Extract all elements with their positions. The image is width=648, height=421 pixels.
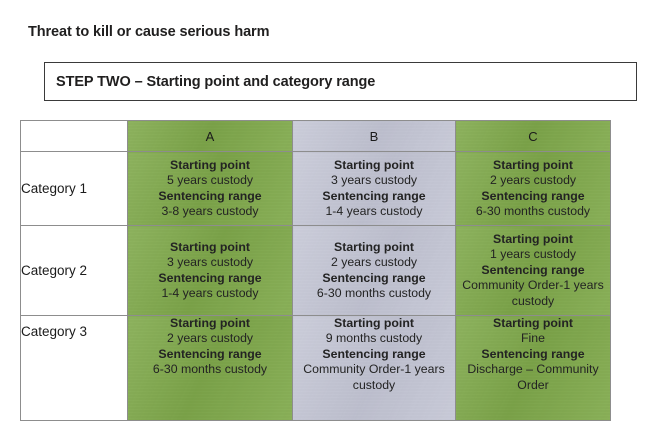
table-corner-cell <box>21 121 128 152</box>
cell-category-1-c: Starting point 2 years custody Sentencin… <box>456 152 611 226</box>
starting-point-label: Starting point <box>128 316 292 331</box>
starting-point-value: 3 years custody <box>293 173 455 188</box>
column-header-c: C <box>456 121 611 152</box>
table-header-row: A B C <box>21 121 611 152</box>
starting-point-value: 9 months custody <box>293 331 455 346</box>
cell-category-3-a: Starting point 2 years custody Sentencin… <box>128 316 293 421</box>
table-row: Category 2 Starting point 3 years custod… <box>21 226 611 316</box>
cell-category-1-b: Starting point 3 years custody Sentencin… <box>293 152 456 226</box>
starting-point-label: Starting point <box>456 232 610 247</box>
sentencing-range-label: Sentencing range <box>293 347 455 362</box>
starting-point-label: Starting point <box>128 158 292 173</box>
cell-category-2-a: Starting point 3 years custody Sentencin… <box>128 226 293 316</box>
sentencing-range-value: 6-30 months custody <box>293 286 455 301</box>
page-title: Threat to kill or cause serious harm <box>28 24 269 40</box>
starting-point-value: 3 years custody <box>128 255 292 270</box>
cell-category-3-c: Starting point Fine Sentencing range Dis… <box>456 316 611 421</box>
sentencing-range-label: Sentencing range <box>128 189 292 204</box>
sentencing-range-value: 6-30 months custody <box>128 362 292 377</box>
starting-point-value: 2 years custody <box>293 255 455 270</box>
sentencing-range-value: 1-4 years custody <box>128 286 292 301</box>
sentencing-range-value: 3-8 years custody <box>128 204 292 219</box>
cell-category-2-c: Starting point 1 years custody Sentencin… <box>456 226 611 316</box>
sentencing-range-label: Sentencing range <box>456 347 610 362</box>
sentencing-range-value: Discharge – Community Order <box>456 362 610 393</box>
sentencing-guideline-table: A B C Category 1 Starting point 5 years … <box>20 120 611 421</box>
sentencing-range-label: Sentencing range <box>293 271 455 286</box>
sentencing-range-label: Sentencing range <box>456 263 610 278</box>
sentencing-range-value: Community Order-1 years custody <box>293 362 455 393</box>
starting-point-label: Starting point <box>456 158 610 173</box>
starting-point-label: Starting point <box>293 316 455 331</box>
starting-point-value: 1 years custody <box>456 247 610 262</box>
column-header-a: A <box>128 121 293 152</box>
starting-point-label: Starting point <box>293 158 455 173</box>
row-label-category-2: Category 2 <box>21 226 128 316</box>
cell-category-1-a: Starting point 5 years custody Sentencin… <box>128 152 293 226</box>
table-row: Category 1 Starting point 5 years custod… <box>21 152 611 226</box>
step-two-banner: STEP TWO – Starting point and category r… <box>44 62 637 101</box>
sentencing-range-label: Sentencing range <box>293 189 455 204</box>
cell-category-2-b: Starting point 2 years custody Sentencin… <box>293 226 456 316</box>
starting-point-label: Starting point <box>293 240 455 255</box>
sentencing-range-label: Sentencing range <box>456 189 610 204</box>
row-label-category-1: Category 1 <box>21 152 128 226</box>
starting-point-value: 5 years custody <box>128 173 292 188</box>
column-header-b: B <box>293 121 456 152</box>
starting-point-value: 2 years custody <box>128 331 292 346</box>
starting-point-value: 2 years custody <box>456 173 610 188</box>
sentencing-range-value: 6-30 months custody <box>456 204 610 219</box>
starting-point-label: Starting point <box>456 316 610 331</box>
sentencing-range-value: Community Order-1 years custody <box>456 278 610 309</box>
sentencing-range-label: Sentencing range <box>128 347 292 362</box>
table-row: Category 3 Starting point 2 years custod… <box>21 316 611 421</box>
step-two-label: STEP TWO – Starting point and category r… <box>45 74 375 90</box>
cell-category-3-b: Starting point 9 months custody Sentenci… <box>293 316 456 421</box>
starting-point-label: Starting point <box>128 240 292 255</box>
row-label-category-3: Category 3 <box>21 316 128 421</box>
starting-point-value: Fine <box>456 331 610 346</box>
sentencing-range-label: Sentencing range <box>128 271 292 286</box>
sentencing-range-value: 1-4 years custody <box>293 204 455 219</box>
